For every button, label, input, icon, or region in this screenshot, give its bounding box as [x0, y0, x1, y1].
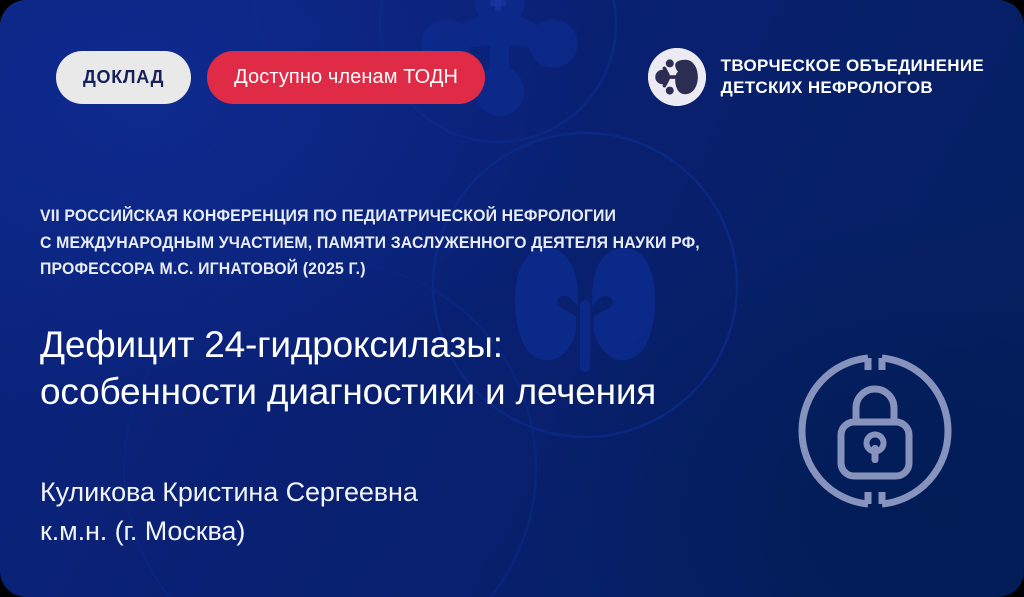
lock-in-segmented-circle-icon — [790, 346, 960, 516]
brand-lockup: ТВОРЧЕСКОЕ ОБЪЕДИНЕНИЕ ДЕТСКИХ НЕФРОЛОГО… — [648, 48, 984, 106]
brand-name-line-1: ТВОРЧЕСКОЕ ОБЪЕДИНЕНИЕ — [721, 55, 984, 77]
conference-subtitle-line-3: ПРОФЕССОРА М.С. ИГНАТОВОЙ (2025 г.) — [40, 256, 700, 283]
speaker-block: Куликова Кристина Сергеевна к.м.н. (г. М… — [40, 473, 418, 550]
talk-announcement-card: ДОКЛАД Доступно членам ТОДН ТВОРЧЕСКОЕ О… — [0, 0, 1024, 597]
conference-subtitle: VII РОССИЙСКАЯ КОНФЕРЕНЦИЯ ПО ПЕДИАТРИЧЕ… — [40, 203, 700, 283]
kidney-molecule-logo-icon — [648, 48, 706, 106]
brand-name-line-2: ДЕТСКИХ НЕФРОЛОГОВ — [721, 77, 984, 99]
speaker-credentials: к.м.н. (г. Москва) — [40, 512, 418, 551]
badge-members-access[interactable]: Доступно членам ТОДН — [207, 51, 485, 104]
brand-name: ТВОРЧЕСКОЕ ОБЪЕДИНЕНИЕ ДЕТСКИХ НЕФРОЛОГО… — [721, 55, 984, 100]
card-header: ДОКЛАД Доступно членам ТОДН ТВОРЧЕСКОЕ О… — [56, 47, 984, 107]
speaker-name: Куликова Кристина Сергеевна — [40, 473, 418, 512]
conference-subtitle-line-2: С МЕЖДУНАРОДНЫМ УЧАСТИЕМ, ПАМЯТИ ЗАСЛУЖЕ… — [40, 230, 700, 257]
talk-title-line-2: особенности диагностики и лечения — [40, 369, 656, 416]
talk-title: Дефицит 24-гидроксилазы: особенности диа… — [40, 322, 656, 415]
talk-title-line-1: Дефицит 24-гидроксилазы: — [40, 322, 656, 369]
badge-report[interactable]: ДОКЛАД — [56, 51, 191, 104]
conference-subtitle-line-1: VII РОССИЙСКАЯ КОНФЕРЕНЦИЯ ПО ПЕДИАТРИЧЕ… — [40, 203, 700, 230]
